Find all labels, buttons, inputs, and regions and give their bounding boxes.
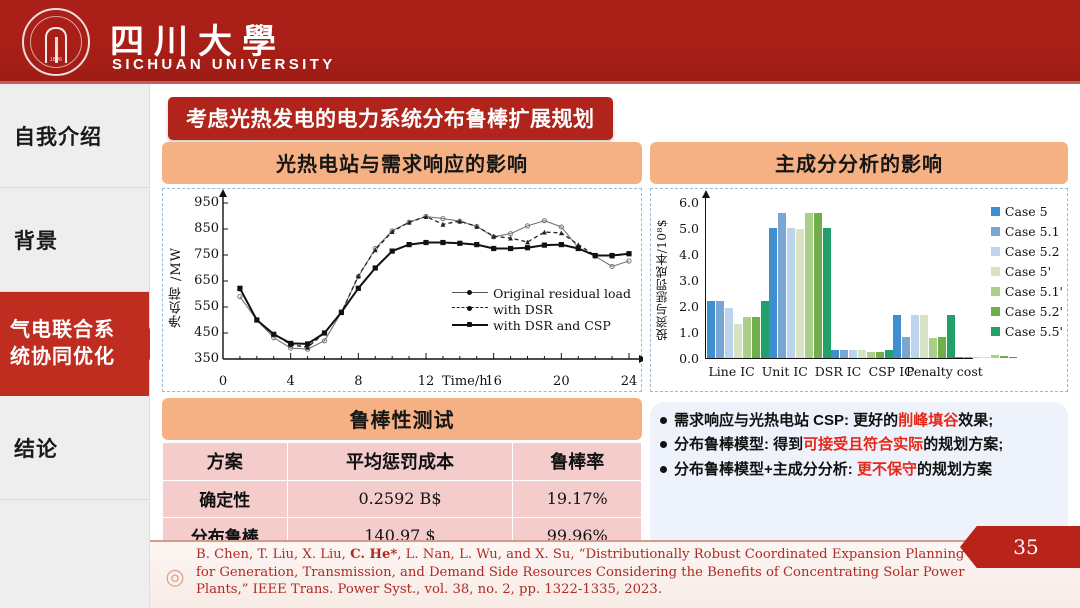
bar xyxy=(734,324,742,358)
legend-item-dsr-csp: with DSR and CSP xyxy=(452,317,631,333)
citation-reference: B. Chen, T. Liu, X. Liu, C. He*, L. Nan,… xyxy=(196,546,986,599)
plain-phrase: 效果; xyxy=(958,412,993,429)
bar-group xyxy=(769,203,831,358)
table-cell-cost: 0.2592 B$ xyxy=(287,481,513,518)
bar xyxy=(911,315,919,358)
bar-legend-item: Case 5 xyxy=(991,201,1063,221)
table-cell-scheme: 确定性 xyxy=(163,481,288,518)
bar xyxy=(823,228,831,358)
legend-label: Case 5.5' xyxy=(1005,324,1063,339)
bullet-dot-icon xyxy=(660,417,667,424)
bar xyxy=(893,315,901,358)
sidebar-item-label: 气电联合系 统协同优化 xyxy=(10,317,115,371)
bar-group xyxy=(707,203,769,358)
legend-label: Original residual load xyxy=(493,286,631,301)
bar-chart-xtick: DSR IC xyxy=(815,364,861,379)
bar xyxy=(814,213,822,358)
bar-chart-ytick: 0.0 xyxy=(669,351,699,366)
bar xyxy=(982,357,990,358)
bar xyxy=(840,350,848,358)
bar-group xyxy=(831,203,893,358)
bar xyxy=(769,228,777,358)
bar-chart-xtick: Penalty cost xyxy=(906,364,983,379)
bar-chart-legend: Case 5Case 5.1Case 5.2Case 5'Case 5.1'Ca… xyxy=(991,201,1063,341)
bar xyxy=(876,352,884,358)
legend-swatch-icon xyxy=(991,287,1000,296)
bar xyxy=(805,213,813,358)
highlighted-phrase: 可接受且符合实际 xyxy=(803,436,923,453)
plain-phrase: 需求响应与光热电站 CSP: 更好的 xyxy=(674,412,898,429)
bar xyxy=(778,213,786,358)
table-header-cell: 平均惩罚成本 xyxy=(287,443,513,481)
citation-part1: B. Chen, T. Liu, X. Liu, xyxy=(196,547,350,562)
legend-label: with DSR xyxy=(493,302,553,317)
panel-pca-impact: 主成分分析的影响 投资与惩罚成本/10⁸$ 0.01.02.03.04.05.0… xyxy=(650,142,1068,392)
bar xyxy=(858,350,866,358)
conclusion-text: 需求响应与光热电站 CSP: 更好的削峰填谷效果; xyxy=(674,410,993,431)
bar-chart-ytick: 4.0 xyxy=(669,247,699,262)
university-seal-icon: 1896 xyxy=(22,8,90,76)
table-header-row: 方案 平均惩罚成本 鲁棒率 xyxy=(163,443,642,481)
legend-label: Case 5.1' xyxy=(1005,284,1063,299)
sidebar-item-label: 结论 xyxy=(14,433,58,463)
legend-item-original: Original residual load xyxy=(452,285,631,301)
sidebar-nav: 自我介绍 背景 气电联合系 统协同优化 结论 xyxy=(0,84,150,608)
sidebar-item-intro[interactable]: 自我介绍 xyxy=(0,84,149,188)
legend-item-dsr: with DSR xyxy=(452,301,631,317)
legend-label: Case 5' xyxy=(1005,264,1051,279)
legend-label: Case 5.1 xyxy=(1005,224,1060,239)
legend-swatch-icon xyxy=(991,247,1000,256)
bar-chart-ylabel: 投资与惩罚成本/10⁸$ xyxy=(653,219,670,341)
bar xyxy=(707,301,715,358)
citation-author-bold: C. He* xyxy=(350,547,397,562)
legend-swatch-icon xyxy=(991,207,1000,216)
bar xyxy=(902,337,910,358)
bar xyxy=(725,308,733,358)
conclusion-text: 分布鲁棒模型+主成分分析: 更不保守的规划方案 xyxy=(674,459,992,480)
bar-chart-plot xyxy=(705,203,969,359)
table-header-cell: 方案 xyxy=(163,443,288,481)
line-chart-frame: 净负荷 /MW 350450550650750850950 0481216202… xyxy=(162,188,642,392)
table-header-cell: 鲁棒率 xyxy=(513,443,642,481)
investment-penalty-bar-chart: 投资与惩罚成本/10⁸$ 0.01.02.03.04.05.06.0 Line … xyxy=(651,189,1067,391)
bar-legend-item: Case 5' xyxy=(991,261,1063,281)
bar xyxy=(831,350,839,358)
bar-chart-ytick: 1.0 xyxy=(669,325,699,340)
panel-title-right-top: 主成分分析的影响 xyxy=(650,142,1068,184)
bar xyxy=(1009,357,1017,358)
legend-swatch-bold-icon xyxy=(452,320,488,330)
bar xyxy=(849,350,857,358)
bar xyxy=(752,317,760,358)
bar xyxy=(716,301,724,358)
page-number-badge: 35 xyxy=(960,526,1080,568)
bar xyxy=(991,355,999,358)
bar-chart-ytick: 5.0 xyxy=(669,221,699,236)
bar-group xyxy=(893,203,955,358)
sidebar-item-label: 背景 xyxy=(14,225,58,255)
bar-chart-ytick: 3.0 xyxy=(669,273,699,288)
bar xyxy=(796,229,804,358)
bar-chart-xtick: Line IC xyxy=(708,364,754,379)
legend-label: Case 5.2' xyxy=(1005,304,1063,319)
conclusion-bullet: 分布鲁棒模型+主成分分析: 更不保守的规划方案 xyxy=(660,459,1056,480)
page-number: 35 xyxy=(1013,535,1038,559)
bar-chart-frame: 投资与惩罚成本/10⁸$ 0.01.02.03.04.05.06.0 Line … xyxy=(650,188,1068,392)
conclusion-bullet: 需求响应与光热电站 CSP: 更好的削峰填谷效果; xyxy=(660,410,1056,431)
conclusion-text: 分布鲁棒模型: 得到可接受且符合实际的规划方案; xyxy=(674,434,1003,455)
university-name-en: SICHUAN UNIVERSITY xyxy=(112,56,336,73)
legend-label: Case 5 xyxy=(1005,204,1048,219)
table-cell-rate: 19.17% xyxy=(513,481,642,518)
legend-label: Case 5.2 xyxy=(1005,244,1060,259)
bar-legend-item: Case 5.2' xyxy=(991,301,1063,321)
bar xyxy=(885,350,893,358)
sidebar-item-label: 自我介绍 xyxy=(14,121,102,151)
plain-phrase: 分布鲁棒模型+主成分分析: xyxy=(674,461,857,478)
bar xyxy=(947,315,955,358)
bar-chart-ytick: 2.0 xyxy=(669,299,699,314)
legend-swatch-icon xyxy=(991,227,1000,236)
seal-year: 1896 xyxy=(50,57,62,63)
footer-seal-icon: ◎ xyxy=(160,562,190,592)
highlighted-phrase: 更不保守 xyxy=(857,461,917,478)
legend-swatch-dashed-icon xyxy=(452,304,488,314)
legend-label: with DSR and CSP xyxy=(493,318,611,333)
conclusion-bullet: 分布鲁棒模型: 得到可接受且符合实际的规划方案; xyxy=(660,434,1056,455)
bullet-dot-icon xyxy=(660,441,667,448)
bar xyxy=(787,228,795,358)
bar-chart-groups xyxy=(707,203,969,358)
bar xyxy=(761,301,769,358)
legend-swatch-icon xyxy=(991,307,1000,316)
bar-legend-item: Case 5.1' xyxy=(991,281,1063,301)
bar-legend-item: Case 5.5' xyxy=(991,321,1063,341)
page-title: 考虑光热发电的电力系统分布鲁棒扩展规划 xyxy=(168,97,613,140)
slide-header: 1896 四川大學 SICHUAN UNIVERSITY xyxy=(0,0,1080,84)
bar xyxy=(929,338,937,358)
sidebar-item-background[interactable]: 背景 xyxy=(0,188,149,292)
legend-swatch-icon xyxy=(991,327,1000,336)
net-load-line-chart: 净负荷 /MW 350450550650750850950 0481216202… xyxy=(163,189,641,391)
bar xyxy=(938,337,946,358)
bar xyxy=(743,317,751,358)
sidebar-item-gas-power-coordination[interactable]: 气电联合系 统协同优化 xyxy=(0,292,149,396)
panel-robustness-test: 鲁棒性测试 方案 平均惩罚成本 鲁棒率 确定性 0.2592 B$ 19.17%… xyxy=(162,398,642,555)
panel-title-left-bottom: 鲁棒性测试 xyxy=(162,398,642,440)
slide-body: 考虑光热发电的电力系统分布鲁棒扩展规划 光热电站与需求响应的影响 净负荷 /MW… xyxy=(150,84,1080,608)
bar xyxy=(973,357,981,358)
bullet-dot-icon xyxy=(660,466,667,473)
plain-phrase: 的规划方案 xyxy=(917,461,992,478)
bar xyxy=(1000,356,1008,358)
panel-csp-dsr-impact: 光热电站与需求响应的影响 净负荷 /MW 3504505506507508509… xyxy=(162,142,642,392)
bar-legend-item: Case 5.1 xyxy=(991,221,1063,241)
robustness-table: 方案 平均惩罚成本 鲁棒率 确定性 0.2592 B$ 19.17% 分布鲁棒 … xyxy=(162,442,642,555)
bar-legend-item: Case 5.2 xyxy=(991,241,1063,261)
legend-swatch-line-icon xyxy=(452,288,488,298)
table-row: 确定性 0.2592 B$ 19.17% xyxy=(163,481,642,518)
plain-phrase: 的规划方案; xyxy=(923,436,1003,453)
bar-chart-ytick: 6.0 xyxy=(669,195,699,210)
bar xyxy=(867,352,875,358)
legend-swatch-icon xyxy=(991,267,1000,276)
plain-phrase: 分布鲁棒模型: 得到 xyxy=(674,436,803,453)
sidebar-item-conclusion[interactable]: 结论 xyxy=(0,396,149,500)
bar xyxy=(955,357,963,358)
bar xyxy=(920,315,928,358)
line-chart-legend: Original residual load with DSR with DSR… xyxy=(452,285,631,333)
bar-chart-xtick: Unit IC xyxy=(762,364,808,379)
highlighted-phrase: 削峰填谷 xyxy=(898,412,958,429)
panel-title-left-top: 光热电站与需求响应的影响 xyxy=(162,142,642,184)
bar xyxy=(964,357,972,358)
